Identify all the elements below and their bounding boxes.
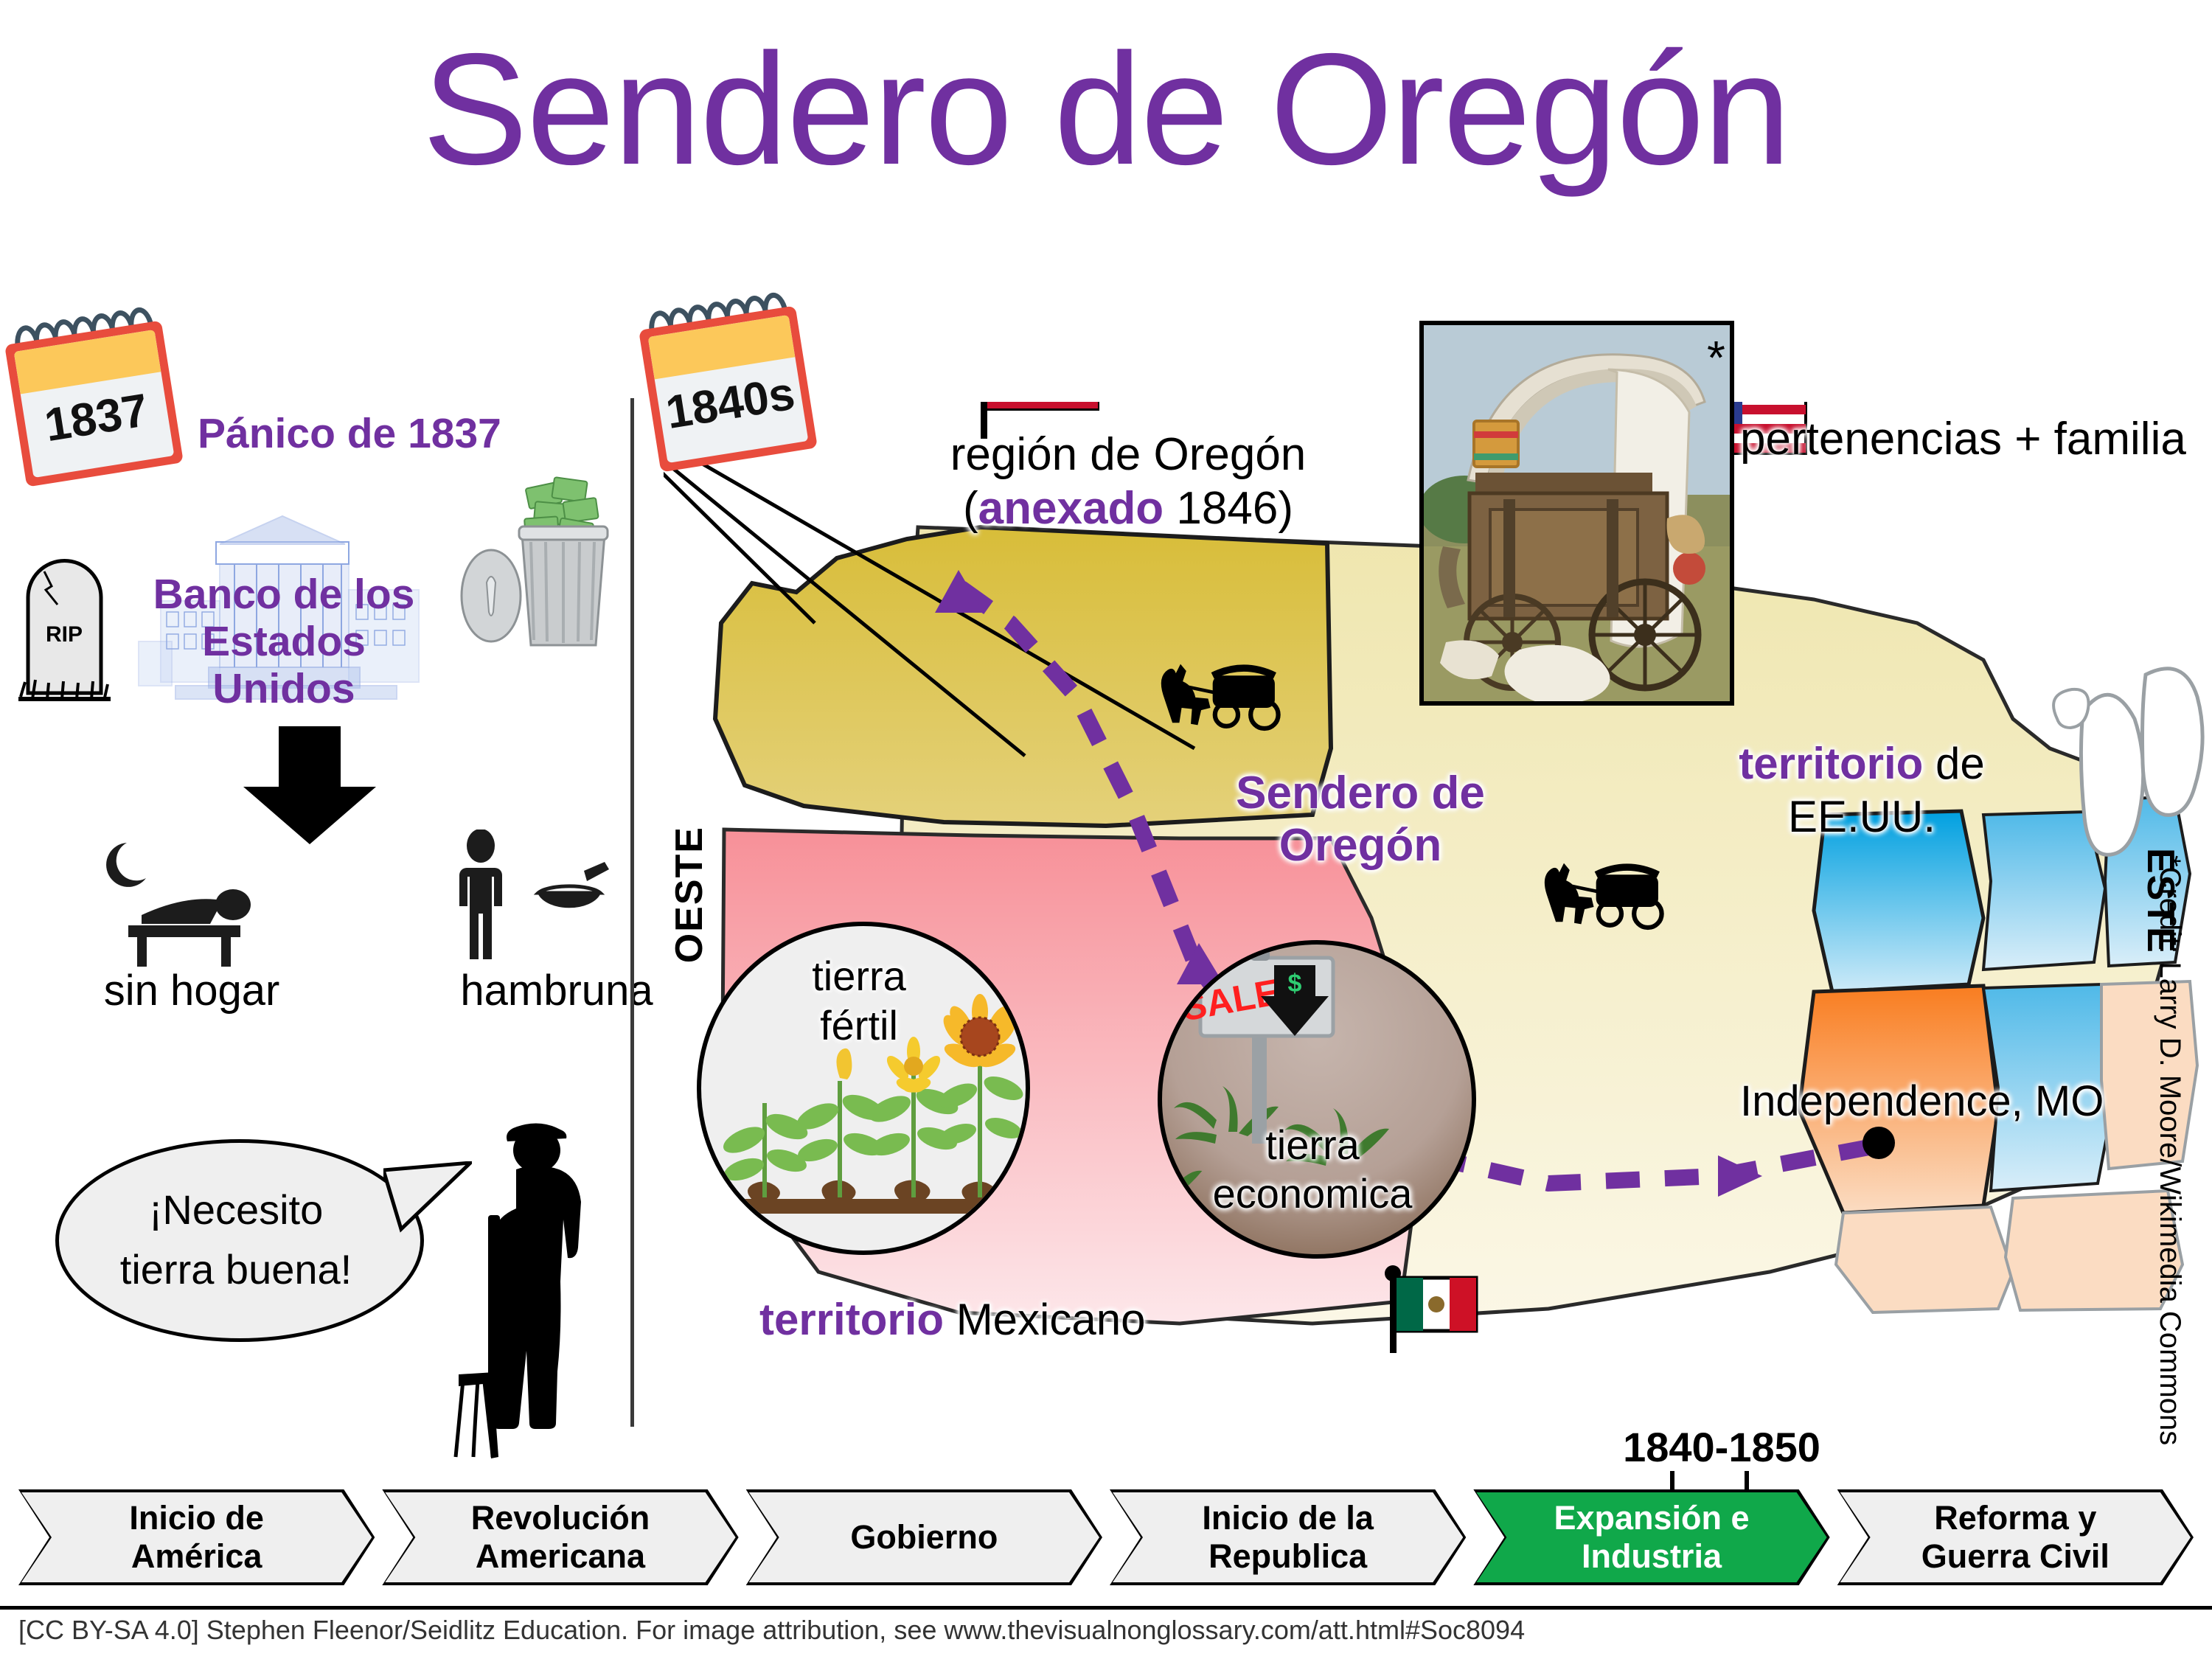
timeline: Inicio de América Revolución Americana G…: [18, 1489, 2194, 1585]
trail-label-line1: Sendero de: [1202, 767, 1519, 819]
fertile-line2: fértil: [712, 1001, 1006, 1050]
photo-asterisk: *: [1707, 330, 1725, 385]
calendar-year-text: 1837: [22, 380, 171, 455]
oregon-region-label: región de Oregón (anexado 1846): [892, 428, 1364, 535]
mexico-flag: [1385, 1265, 1476, 1353]
footer-divider: [0, 1606, 2212, 1610]
page-title: Sendero de Oregón: [0, 29, 2212, 188]
us-territory-line2: EE.UU.: [1688, 790, 2035, 844]
timeline-item-inicio-de-america[interactable]: Inicio de América: [18, 1489, 375, 1585]
west-label: OESTE: [667, 826, 712, 963]
svg-text:RIP: RIP: [46, 622, 83, 647]
cheap-line1: tierra: [1128, 1121, 1497, 1169]
svg-text:$: $: [1288, 970, 1302, 998]
paren-close: ): [1278, 483, 1293, 534]
speech-bubble-text: ¡Necesito tierra buena!: [66, 1180, 406, 1299]
speech-line-2: tierra buena!: [66, 1239, 406, 1299]
calendar-1840s-icon: 1840s: [639, 305, 818, 472]
mexican-territory-label: territorio Mexicano: [759, 1294, 1146, 1345]
timeline-label-line2: Industria: [1582, 1537, 1722, 1575]
panic-label: Pánico de 1837: [198, 409, 501, 458]
famine-icon: [428, 829, 619, 970]
timeline-label-line1: Revolución: [471, 1499, 650, 1537]
timeline-label-line2: Americana: [476, 1537, 645, 1575]
timeline-label-line1: Gobierno: [850, 1518, 998, 1557]
photo-credit: *Credit: Larry D. Moore/Wikimedia Common…: [2153, 855, 2186, 1445]
timeline-label-line1: Expansión e: [1554, 1499, 1749, 1537]
fertile-line1: tierra: [712, 951, 1006, 1001]
de-word: de: [1923, 739, 1984, 788]
timeline-label-line1: Inicio de la: [1202, 1499, 1374, 1537]
territorio-word: territorio: [1739, 739, 1923, 788]
start-city-label: Independence, MO: [1740, 1077, 2104, 1126]
calendar-decade-text: 1840s: [656, 366, 805, 440]
timeline-item-reforma-y-guerra-civil[interactable]: Reforma y Guerra Civil: [1837, 1489, 2194, 1585]
timeline-label-line2: Guerra Civil: [1921, 1537, 2110, 1575]
us-territory-label: territorio de EE.UU.: [1688, 737, 2035, 844]
homeless-label: sin hogar: [55, 966, 328, 1015]
mexicano-word: Mexicano: [944, 1295, 1145, 1344]
timeline-label-line2: América: [131, 1537, 262, 1575]
oregon-region-line1: región de Oregón: [892, 428, 1364, 481]
fertile-land-label: tierra fértil: [712, 951, 1006, 1050]
timeline-item-gobierno[interactable]: Gobierno: [746, 1489, 1102, 1585]
trash-can-money-icon: [457, 472, 627, 656]
down-arrow-icon: [243, 726, 376, 844]
cheap-line2: economica: [1128, 1169, 1497, 1218]
footer-attribution: [CC BY-SA 4.0] Stephen Fleenor/Seidlitz …: [18, 1615, 1525, 1646]
bank-label: Banco de los Estados Unidos: [129, 571, 439, 712]
territorio-word: territorio: [759, 1295, 944, 1344]
trail-label-line2: Oregón: [1202, 819, 1519, 872]
paren-open: (: [963, 483, 978, 534]
timeline-label-line1: Reforma y: [1934, 1499, 2096, 1537]
oregon-region-line2: (anexado 1846): [892, 481, 1364, 535]
homeless-icon: [96, 837, 288, 970]
photo-caption: pertenencias + familia: [1740, 413, 2186, 465]
trail-label: Sendero de Oregón: [1202, 767, 1519, 872]
farmer-silhouette-icon: [442, 1121, 627, 1460]
cheap-land-label: tierra economica: [1128, 1121, 1497, 1218]
famine-label: hambruna: [409, 966, 704, 1015]
timeline-item-revolucion-americana[interactable]: Revolución Americana: [382, 1489, 738, 1585]
annex-word: anexado: [978, 483, 1164, 534]
speech-line-1: ¡Necesito: [66, 1180, 406, 1239]
timeline-label-line1: Inicio de: [129, 1499, 264, 1537]
us-territory-line1: territorio de: [1688, 737, 2035, 790]
panel-divider: [630, 398, 634, 1427]
timeline-item-expansion-e-industria[interactable]: Expansión e Industria: [1473, 1489, 1829, 1585]
gravestone-rip-icon: RIP: [15, 546, 114, 708]
bank-label-line1: Banco de los: [129, 571, 439, 619]
timeline-label-line2: Republica: [1208, 1537, 1367, 1575]
bank-label-line2: Estados Unidos: [129, 619, 439, 713]
era-range-label: 1840-1850: [1574, 1423, 1869, 1471]
calendar-1837-icon: 1837: [4, 320, 184, 487]
annex-year: 1846: [1164, 483, 1278, 534]
covered-wagon-photo: [1419, 321, 1734, 706]
timeline-item-inicio-de-la-republica[interactable]: Inicio de la Republica: [1110, 1489, 1466, 1585]
